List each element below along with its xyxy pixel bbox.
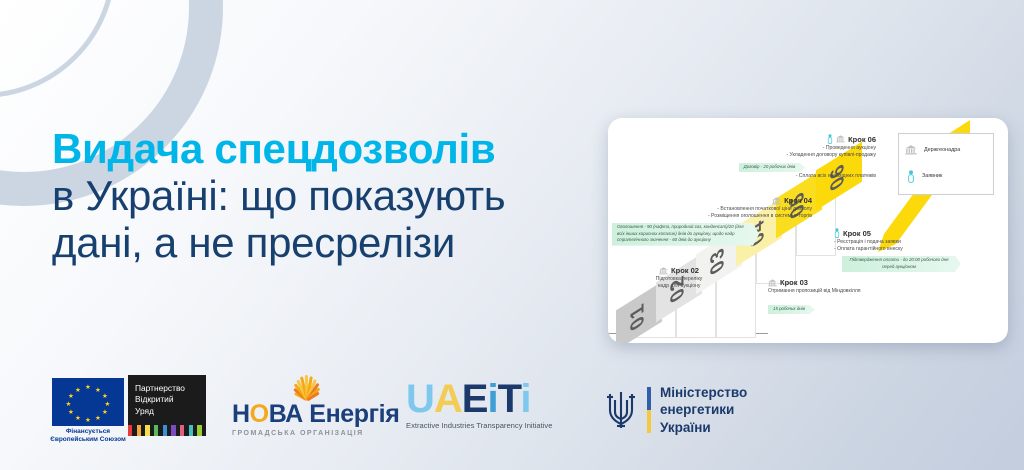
- step-02-bullet-2: надр для аукціону: [624, 283, 734, 290]
- ua-eiti-wordmark: UAEiTi: [406, 380, 552, 418]
- step-label-03-title: Крок 03: [780, 278, 808, 287]
- step-label-03-header: Крок 03: [768, 278, 898, 287]
- ueiti-letter-u: U: [406, 377, 434, 421]
- legend-item-applicant: Заявник: [905, 170, 987, 183]
- ogp-line-3: Уряд: [135, 406, 154, 416]
- step-label-06: Крок 06 - Проведення аукціону - Укладенн…: [668, 134, 876, 181]
- partner-logo-strip: ★ ★ ★ ★ ★ ★ ★ ★ ★ ★ ★ ★ Фінансується Євр…: [0, 372, 1024, 450]
- ministry-of-energy-logo: Міністерство енергетики України: [604, 384, 747, 436]
- step-label-04-title: Крок 04: [784, 196, 812, 205]
- ne-letter-n: Н: [232, 400, 250, 428]
- ministry-name: Міністерство енергетики України: [660, 384, 747, 436]
- sun-rays-icon: [232, 374, 382, 400]
- step-03-duration-pill: 15 робочих днів: [768, 305, 815, 315]
- title-line-3: дані, а не пресрелізи: [52, 219, 612, 266]
- step-05-bullet-2: - Оплата гарантійного внеску: [834, 246, 974, 253]
- ministry-divider-bar: [647, 387, 651, 433]
- person-icon: [907, 170, 915, 183]
- nova-energia-logo: НОВА Енергія ГРОМАДСЬКА ОРГАНІЗАЦІЯ: [232, 374, 399, 437]
- banner-canvas: Видача спецдозволів в Україні: що показу…: [0, 0, 1024, 470]
- government-building-icon: [768, 279, 777, 287]
- ua-eiti-logo: UAEiTi Extractive Industries Transparenc…: [406, 380, 552, 430]
- diagram-legend: Держгеонадра Заявник: [898, 133, 994, 195]
- ueiti-letter-t: T: [498, 377, 521, 421]
- legend-label-regulator: Держгеонадра: [924, 147, 960, 153]
- step-label-06-title: Крок 06: [848, 135, 876, 144]
- ogp-color-bar-icon: [128, 425, 206, 436]
- step-label-02-bullets: Підготовка переліку надр для аукціону: [624, 276, 734, 291]
- step-label-04-bullets: - Встановлення початкової ціни дозволу -…: [612, 206, 812, 221]
- step-label-05-bullets: - Реєстрація і подача заявки - Оплата га…: [834, 239, 974, 254]
- step-label-02: Крок 02 Підготовка переліку надр для аук…: [624, 266, 734, 291]
- step-label-03-bullets: Отримання пропозицій від Міндовкілля: [768, 288, 898, 295]
- step-06-bullet-3: - Сплата всіх необхідних платежів: [668, 173, 876, 180]
- ueiti-letter-i1: i: [487, 377, 497, 421]
- step-label-05-title: Крок 05: [843, 229, 871, 238]
- government-building-icon: [659, 267, 668, 275]
- ne-letter-o: О: [250, 400, 269, 428]
- government-building-icon: [905, 145, 917, 155]
- step-02-bullet-1: Підготовка переліку: [624, 276, 734, 283]
- legend-label-applicant: Заявник: [922, 173, 942, 179]
- step-label-04: Крок 04 - Встановлення початкової ціни д…: [612, 196, 812, 246]
- eu-flag-icon: ★ ★ ★ ★ ★ ★ ★ ★ ★ ★ ★ ★: [52, 378, 124, 426]
- ogp-text-box: Партнерство Відкритий Уряд: [128, 375, 206, 425]
- ueiti-letter-i2: i: [520, 377, 530, 421]
- eu-caption-line-1: Фінансується: [66, 428, 110, 435]
- ueiti-letter-e: E: [462, 377, 488, 421]
- step-label-03: Крок 03 Отримання пропозицій від Міндовк…: [768, 278, 898, 315]
- stair-step-01-number: 01: [628, 298, 650, 335]
- step-05-duration-pill: Підтвердження оплати - до 20:00 робочого…: [842, 256, 961, 272]
- government-building-icon: [772, 197, 781, 205]
- step-06-bullet-1: - Проведення аукціону: [668, 145, 876, 152]
- ne-rest: ВА Енергія: [269, 400, 400, 428]
- step-label-05-header: Крок 05: [834, 228, 974, 238]
- infographic-card[interactable]: 01 02 03 04 05 06: [608, 118, 1008, 343]
- step-06-duration-pill: Договір - 20 робочих днів: [739, 163, 806, 173]
- legend-item-regulator: Держгеонадра: [905, 145, 987, 155]
- step-label-02-header: Крок 02: [624, 266, 734, 275]
- step-04-bullet-1: - Встановлення початкової ціни дозволу: [612, 206, 812, 213]
- step-04-bullet-2: - Розміщення оголошення в системі е-торг…: [612, 213, 812, 220]
- step-04-duration-pill: Оголошення - 90 (нафта, природний газ, к…: [612, 223, 759, 246]
- eu-funding-logo: ★ ★ ★ ★ ★ ★ ★ ★ ★ ★ ★ ★ Фінансується Євр…: [52, 378, 131, 444]
- person-icon: [834, 228, 840, 238]
- eu-caption-line-2: Європейським Союзом: [50, 436, 126, 443]
- ministry-line-3: України: [660, 420, 711, 435]
- step-03-bullet-1: Отримання пропозицій від Міндовкілля: [768, 288, 898, 295]
- open-government-partnership-logo: Партнерство Відкритий Уряд: [128, 375, 206, 436]
- title-line-1: Видача спецдозволів: [52, 125, 612, 172]
- nova-energia-wordmark: НОВА Енергія: [232, 400, 399, 429]
- step-label-04-header: Крок 04: [612, 196, 812, 205]
- ministry-line-1: Міністерство: [660, 385, 747, 400]
- ogp-line-2: Відкритий: [135, 394, 174, 404]
- ueiti-letter-a: A: [434, 377, 462, 421]
- ukraine-trident-icon: [604, 388, 638, 432]
- step-label-02-title: Крок 02: [671, 266, 699, 275]
- step-label-05: Крок 05 - Реєстрація і подача заявки - О…: [834, 228, 974, 272]
- page-title: Видача спецдозволів в Україні: що показу…: [52, 125, 612, 266]
- nova-energia-subtitle: ГРОМАДСЬКА ОРГАНІЗАЦІЯ: [232, 430, 399, 437]
- eu-funding-caption: Фінансується Європейським Союзом: [45, 428, 131, 444]
- government-building-icon: [836, 135, 845, 143]
- title-line-2: в Україні: що показують: [52, 172, 612, 219]
- step-label-06-header: Крок 06: [668, 134, 876, 144]
- step-06-bullet-2: - Укладення договору купівлі-продажу: [668, 152, 876, 159]
- infographic-diagram: 01 02 03 04 05 06: [608, 118, 1008, 343]
- ogp-line-1: Партнерство: [135, 383, 185, 393]
- ministry-line-2: енергетики: [660, 402, 734, 417]
- ua-eiti-subtitle: Extractive Industries Transparency Initi…: [406, 421, 552, 430]
- step-label-06-bullets: - Проведення аукціону - Укладення догово…: [668, 145, 876, 181]
- person-icon: [827, 134, 833, 144]
